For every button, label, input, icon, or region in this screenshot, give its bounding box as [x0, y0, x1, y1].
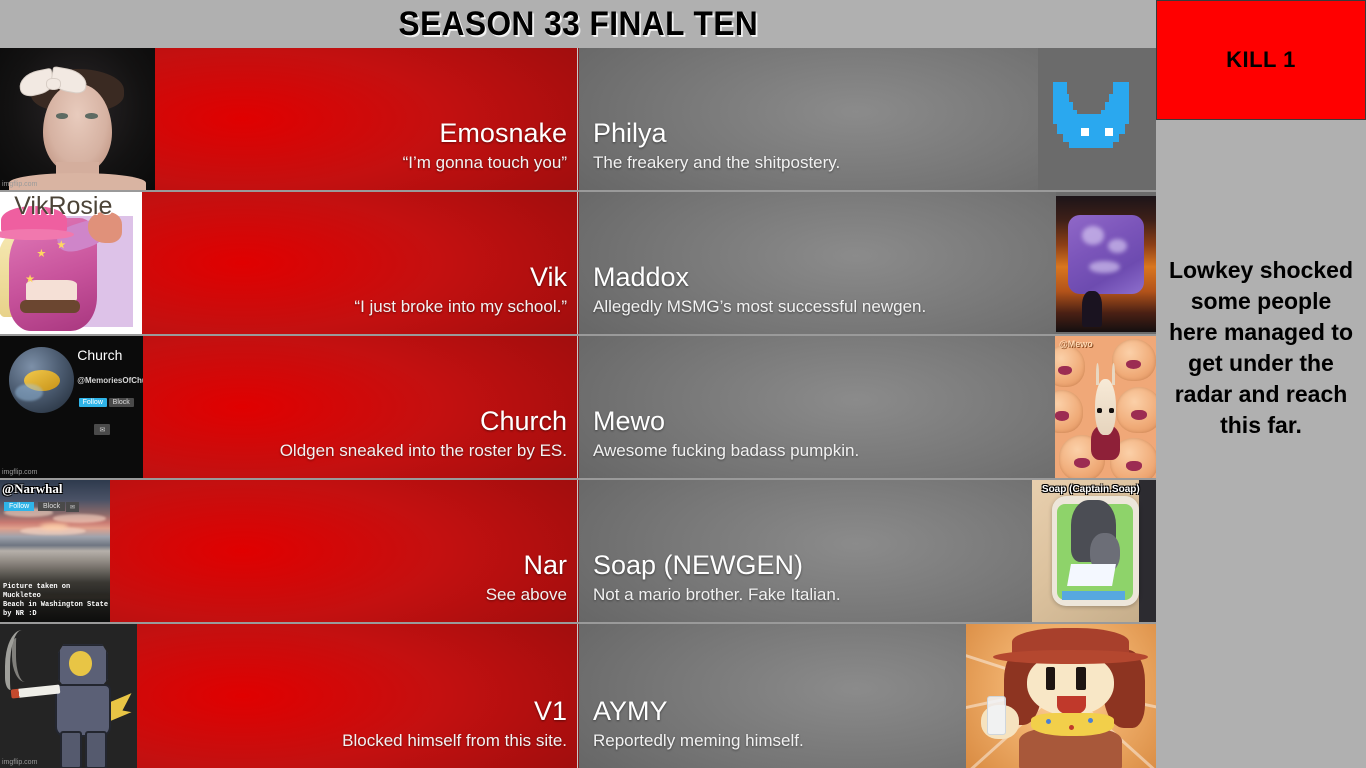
photo-card — [1052, 496, 1139, 607]
block-button[interactable]: Block — [109, 398, 134, 407]
mouth-shape — [1057, 696, 1086, 715]
imgflip-watermark: imgflip.com — [2, 181, 37, 189]
contestant-name: Soap (NEWGEN) — [593, 550, 803, 581]
contestant-name: Philya — [593, 118, 667, 149]
row-5-left-cell: imgflip.com V1 Blocked himself from this… — [0, 624, 578, 768]
tier-list-image: SEASON 33 FINAL TEN — [0, 0, 1366, 768]
hair-bow-icon — [19, 68, 87, 99]
contestant-name: Church — [480, 406, 567, 437]
row-2-left-text: Vik “I just broke into my school.” — [142, 192, 577, 334]
highlight-shape — [15, 384, 43, 401]
contestant-name: Vik — [530, 262, 567, 293]
vikrosie-artwork: VikRosie — [0, 192, 142, 334]
contestant-desc: The freakery and the shitpostery. — [593, 152, 840, 174]
profile-handle: @MemoriesOfChurch — [77, 376, 143, 385]
follow-button[interactable]: Follow — [4, 502, 34, 511]
selfie-artwork — [0, 48, 155, 190]
right-eye-shape — [85, 113, 97, 119]
desk-shape — [1062, 591, 1124, 600]
left-eye-shape — [1046, 667, 1056, 690]
contestant-desc: Blocked himself from this site. — [342, 730, 567, 752]
kill-badge: KILL 1 — [1156, 0, 1366, 120]
row-5-right-cell: AYMY Reportedly meming himself. — [578, 624, 1156, 768]
right-eye-shape — [1076, 667, 1086, 690]
row-4-left-cell: @Narwhal Follow Block ✉ Picture taken on… — [0, 480, 578, 622]
page-title: SEASON 33 FINAL TEN — [398, 5, 758, 44]
emosnake-selfie-thumbnail: imgflip.com — [0, 48, 155, 190]
aymy-cowboy-cookie-thumbnail — [966, 624, 1156, 768]
contestant-name: V1 — [534, 696, 567, 727]
contestant-name: Maddox — [593, 262, 689, 293]
row-2-left-cell: VikRosie Vik “I just broke into my schoo… — [0, 192, 578, 334]
photo-title: @Narwhal — [2, 481, 62, 497]
roster-rows: imgflip.com Emosnake “I’m gonna touch yo… — [0, 48, 1156, 768]
row-4-right-cell: Soap (NEWGEN) Not a mario brother. Fake … — [578, 480, 1156, 622]
row-3-right-cell: Mewo Awesome fucking badass pumpkin. — [578, 336, 1156, 478]
artwork-tag: @Mewo — [1059, 339, 1093, 349]
maddox-purple-fire-thumbnail — [1056, 192, 1156, 334]
contestant-desc: “I just broke into my school.” — [354, 296, 567, 318]
contestant-desc: Not a mario brother. Fake Italian. — [593, 584, 841, 606]
bottle-shape — [987, 696, 1006, 735]
row-1-right-cell: Philya The freakery and the shitpostery. — [578, 48, 1156, 190]
purple-panel — [1068, 215, 1144, 294]
table-row: Church @MemoriesOfChurch Follow Block ✉ … — [0, 336, 1156, 480]
edge-shape — [1139, 480, 1156, 622]
cat-head-icon — [1051, 80, 1143, 158]
philya-blue-cat-icon — [1038, 48, 1156, 190]
soap-drawing-photo-thumbnail: Soap (Captain.Soap) — [1032, 480, 1156, 622]
imgflip-watermark: imgflip.com — [2, 759, 37, 767]
contestant-desc: “I’m gonna touch you” — [403, 152, 567, 174]
photo-caption: Picture taken on Muckleteo Beach in Wash… — [3, 583, 110, 619]
body-shape — [55, 684, 111, 737]
sun-glow — [40, 523, 69, 530]
row-4-left-text: Nar See above — [110, 480, 577, 622]
table-row: imgflip.com V1 Blocked himself from this… — [0, 624, 1156, 768]
figure-shape — [1082, 291, 1102, 326]
commentary-note: Lowkey shocked some people here managed … — [1156, 255, 1366, 441]
church-profile-card-thumbnail: Church @MemoriesOfChurch Follow Block ✉ … — [0, 336, 143, 478]
table-row: @Narwhal Follow Block ✉ Picture taken on… — [0, 480, 1156, 624]
narwhal-sunset-beach-thumbnail: @Narwhal Follow Block ✉ Picture taken on… — [0, 480, 110, 622]
row-2-right-cell: Maddox Allegedly MSMG’s most successful … — [578, 192, 1156, 334]
block-button[interactable]: Block — [38, 502, 65, 511]
eye-shape — [69, 651, 92, 675]
thumb-frame — [1056, 196, 1156, 332]
mewo-pumpkin-artwork-thumbnail: @Mewo — [1055, 336, 1156, 478]
contestant-desc: Reportedly meming himself. — [593, 730, 804, 752]
row-3-left-cell: Church @MemoriesOfChurch Follow Block ✉ … — [0, 336, 578, 478]
contestant-name: Emosnake — [439, 118, 567, 149]
paper-shape — [1067, 564, 1116, 586]
soap-artwork: Soap (Captain.Soap) — [1032, 480, 1156, 622]
mewo-artwork: @Mewo — [1055, 336, 1156, 478]
head-shape — [1095, 379, 1115, 436]
contestant-name: Mewo — [593, 406, 665, 437]
contestant-desc: Oldgen sneaked into the roster by ES. — [280, 440, 567, 462]
kill-badge-label: KILL 1 — [1226, 47, 1296, 73]
contestant-desc: Allegedly MSMG’s most successful newgen. — [593, 296, 926, 318]
belt-shape — [20, 300, 80, 313]
side-panel: KILL 1 Lowkey shocked some people here m… — [1156, 0, 1366, 768]
contestant-desc: See above — [486, 584, 567, 606]
row-3-left-text: Church Oldgen sneaked into the roster by… — [143, 336, 577, 478]
avatar — [9, 347, 75, 413]
profile-name: Church — [77, 347, 122, 363]
envelope-icon[interactable]: ✉ — [94, 424, 110, 435]
v1-robot-smoking-thumbnail: imgflip.com — [0, 624, 137, 768]
aymy-artwork — [966, 624, 1156, 768]
contestant-name: Nar — [523, 550, 567, 581]
row-1-left-cell: imgflip.com Emosnake “I’m gonna touch yo… — [0, 48, 578, 190]
table-row: VikRosie Vik “I just broke into my schoo… — [0, 192, 1156, 336]
maddox-artwork — [1056, 196, 1156, 332]
envelope-icon[interactable]: ✉ — [66, 502, 79, 512]
church-card-artwork: Church @MemoriesOfChurch Follow Block ✉ — [0, 336, 143, 478]
table-row: imgflip.com Emosnake “I’m gonna touch yo… — [0, 48, 1156, 192]
follow-button[interactable]: Follow — [79, 398, 107, 407]
right-leg-shape — [85, 731, 107, 768]
row-1-left-text: Emosnake “I’m gonna touch you” — [155, 48, 577, 190]
artwork-title: VikRosie — [14, 192, 136, 221]
imgflip-watermark: imgflip.com — [2, 469, 37, 477]
artwork-tag: Soap (Captain.Soap) — [1042, 484, 1140, 495]
contestant-desc: Awesome fucking badass pumpkin. — [593, 440, 859, 462]
vikrosie-oc-artwork-thumbnail: VikRosie — [0, 192, 142, 334]
left-eye-shape — [56, 113, 68, 119]
left-leg-shape — [60, 731, 82, 768]
blue-cat-artwork — [1038, 48, 1156, 190]
v1-artwork — [0, 624, 137, 768]
row-5-left-text: V1 Blocked himself from this site. — [137, 624, 577, 768]
header-band: SEASON 33 FINAL TEN — [0, 0, 1156, 48]
contestant-name: AYMY — [593, 696, 668, 727]
